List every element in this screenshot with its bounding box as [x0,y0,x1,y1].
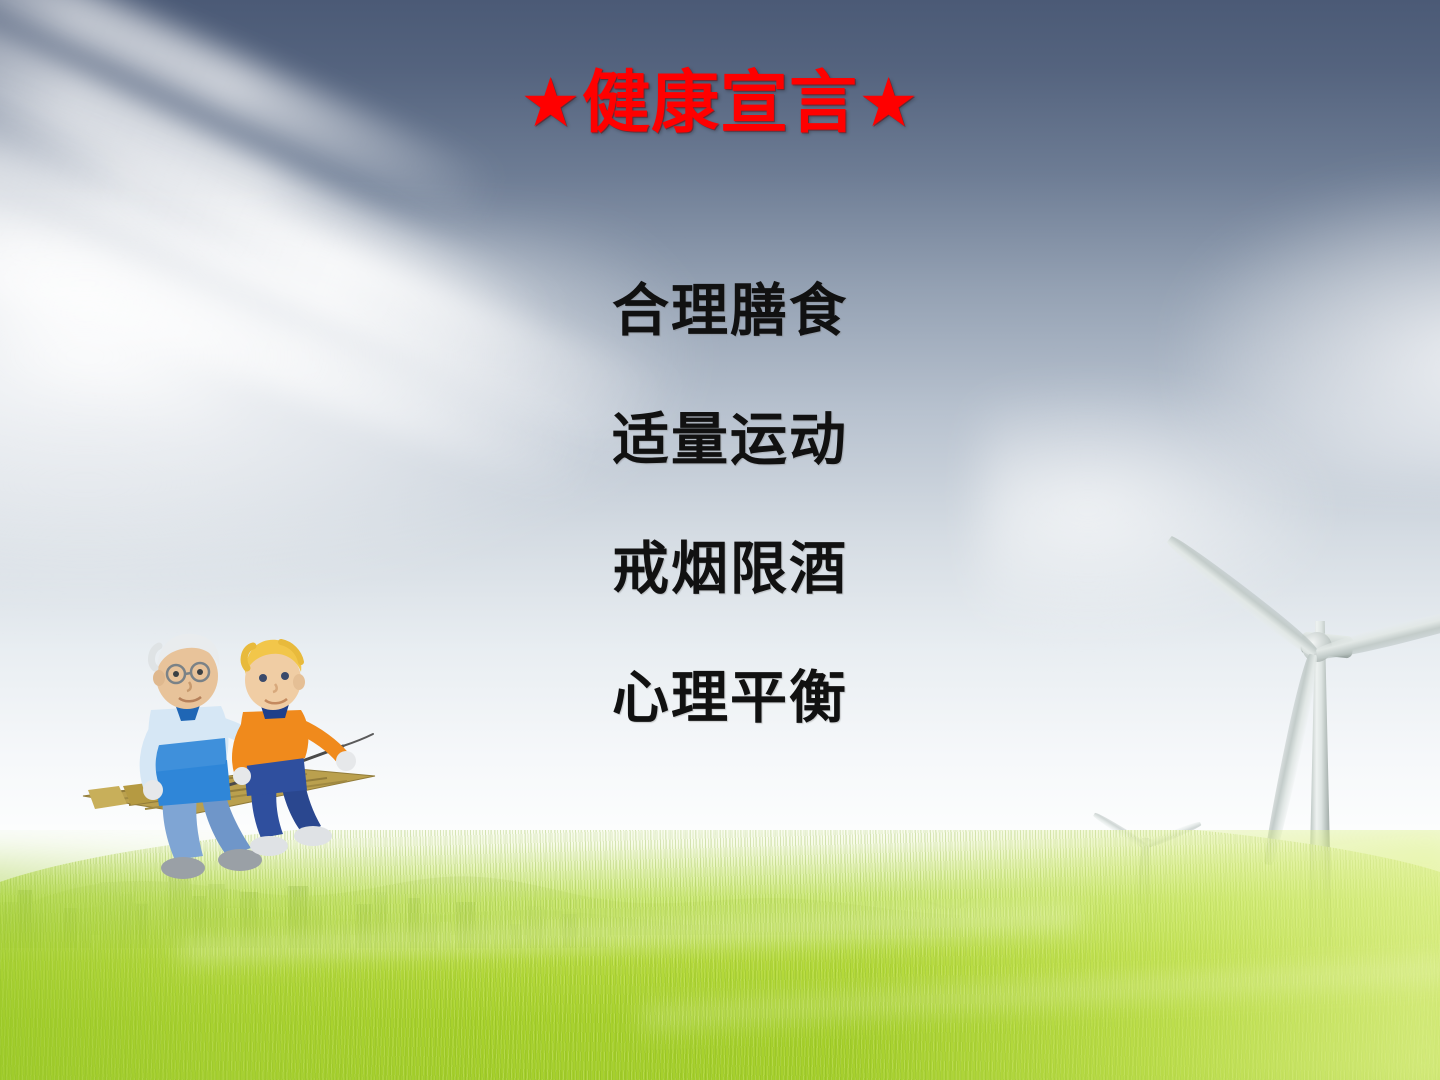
declaration-item-3: 戒烟限酒 [612,541,1032,598]
declaration-item-2: 适量运动 [612,412,1032,469]
grass-highlight-right [720,830,1440,1080]
declaration-item-1: 合理膳食 [612,283,1032,340]
declaration-item-4: 心理平衡 [612,670,1032,727]
health-declaration-list: 合理膳食 适量运动 戒烟限酒 心理平衡 [612,283,1032,727]
cloud-streak-icon [0,0,502,228]
cloud-streak-icon [0,33,681,464]
clipart-grandpa-and-child-fishing [75,618,385,908]
cloud-haze [0,230,700,590]
cloud-streak-icon [0,172,599,498]
cloud-streak-icon [0,52,302,447]
cloud-streak-icon [0,0,564,366]
cloud-haze-right [1180,180,1440,480]
cloud-haze-low [980,380,1340,640]
presentation-slide: ★健康宣言★ 合理膳食 适量运动 戒烟限酒 心理平衡 [0,0,1440,1080]
fishing-clipart-icon [75,618,385,908]
